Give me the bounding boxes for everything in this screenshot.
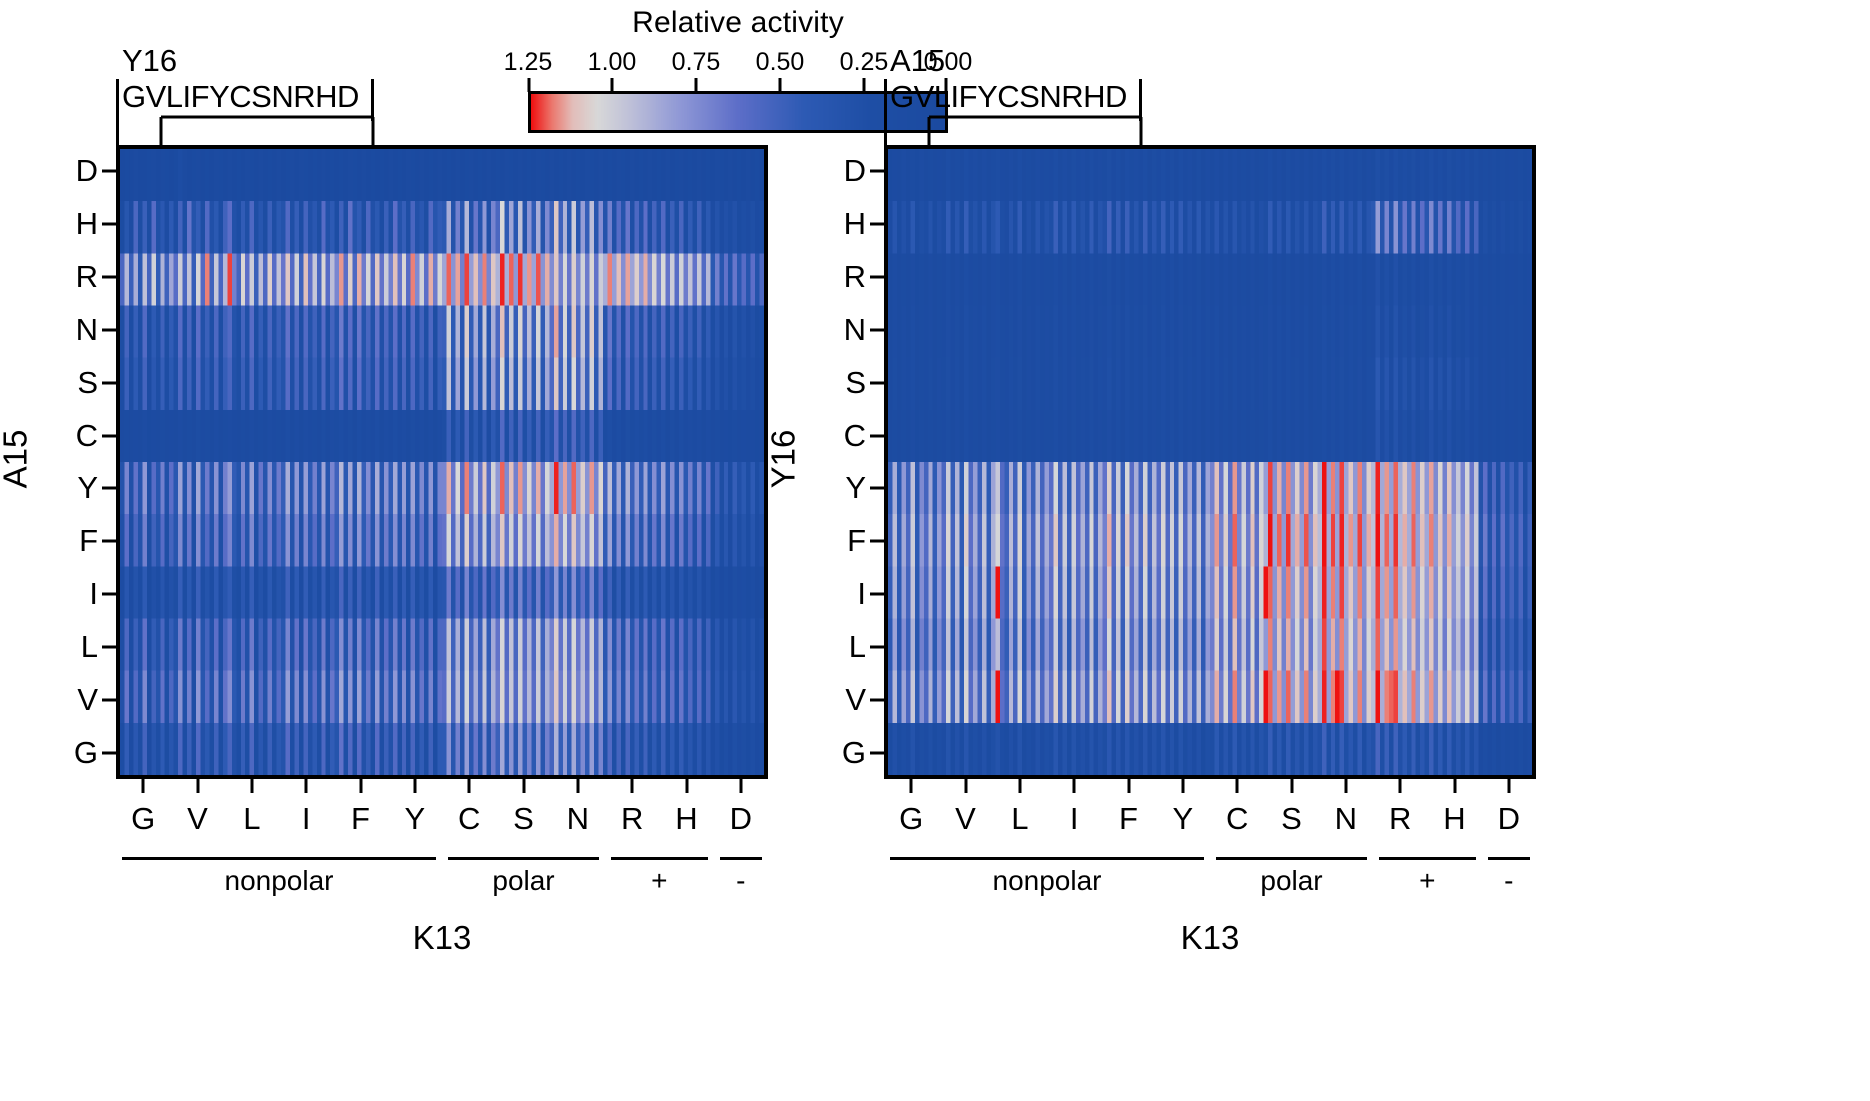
- figure-root: Relative activity 1.251.000.750.500.250.…: [0, 0, 1870, 1101]
- corner-sequence-end-bar: [371, 79, 374, 121]
- x-tick-label: V: [187, 801, 208, 837]
- x-tick-mark: [910, 779, 913, 793]
- y-tick-label: R: [76, 259, 98, 295]
- y-tick-mark: [870, 593, 884, 596]
- y-tick-mark: [102, 751, 116, 754]
- x-tick-label: L: [1011, 801, 1028, 837]
- y-tick-label: H: [844, 206, 866, 242]
- x-tick-label: R: [1389, 801, 1411, 837]
- y-tick-label: D: [76, 153, 98, 189]
- panel-left-heatmap-canvas: [120, 149, 764, 775]
- panel-left-y-tick-labels: DHRNSCYFILVG: [56, 145, 98, 779]
- group-bracket-line: [448, 857, 599, 860]
- y-tick-mark: [102, 276, 116, 279]
- x-tick-mark: [1399, 779, 1402, 793]
- y-tick-label: G: [842, 735, 866, 771]
- y-tick-label: F: [847, 523, 866, 559]
- panel-left-plot-area: [116, 145, 768, 779]
- x-tick-mark: [359, 779, 362, 793]
- x-tick-mark: [1181, 779, 1184, 793]
- y-tick-label: F: [79, 523, 98, 559]
- y-tick-mark: [102, 487, 116, 490]
- y-tick-mark: [102, 223, 116, 226]
- group-bracket-line: [122, 857, 436, 860]
- corner-sequence-end-bar: [1139, 79, 1142, 121]
- x-tick-label: C: [1226, 801, 1248, 837]
- x-tick-mark: [739, 779, 742, 793]
- x-tick-mark: [685, 779, 688, 793]
- x-tick-mark: [1127, 779, 1130, 793]
- y-tick-label: R: [844, 259, 866, 295]
- y-tick-mark: [102, 434, 116, 437]
- group-label: +: [1419, 865, 1435, 897]
- panel-left-y-axis-title: A15: [0, 430, 34, 489]
- y-tick-mark: [870, 751, 884, 754]
- panel-left-x-axis-title: K13: [413, 919, 472, 957]
- x-tick-label: N: [567, 801, 589, 837]
- y-tick-mark: [102, 381, 116, 384]
- y-tick-label: C: [76, 418, 98, 454]
- panel-right-y-axis-title: Y16: [764, 430, 802, 489]
- x-tick-label: H: [675, 801, 697, 837]
- y-tick-mark: [102, 540, 116, 543]
- x-tick-label: S: [1281, 801, 1302, 837]
- x-tick-label: V: [955, 801, 976, 837]
- x-tick-label: H: [1443, 801, 1465, 837]
- y-tick-mark: [102, 170, 116, 173]
- x-tick-label: G: [899, 801, 923, 837]
- y-tick-mark: [102, 593, 116, 596]
- y-tick-mark: [102, 645, 116, 648]
- panel-right-corner-residue: A15: [890, 45, 945, 76]
- group-bracket-line: [720, 857, 762, 860]
- x-tick-mark: [1507, 779, 1510, 793]
- panel-left-x-ticks: [116, 779, 768, 793]
- x-tick-label: I: [302, 801, 311, 837]
- x-tick-label: F: [1119, 801, 1138, 837]
- y-tick-label: S: [845, 365, 866, 401]
- x-tick-mark: [413, 779, 416, 793]
- x-tick-label: C: [458, 801, 480, 837]
- group-bracket-line: [890, 857, 1204, 860]
- y-tick-mark: [870, 276, 884, 279]
- y-tick-mark: [870, 645, 884, 648]
- x-tick-label: L: [243, 801, 260, 837]
- panel-right-y-tick-labels: DHRNSCYFILVG: [824, 145, 866, 779]
- x-tick-mark: [142, 779, 145, 793]
- group-label: +: [651, 865, 667, 897]
- group-label: -: [736, 865, 745, 897]
- y-tick-label: G: [74, 735, 98, 771]
- x-tick-mark: [1453, 779, 1456, 793]
- x-tick-mark: [1236, 779, 1239, 793]
- y-tick-label: I: [857, 576, 866, 612]
- y-tick-label: V: [77, 682, 98, 718]
- y-tick-label: Y: [845, 470, 866, 506]
- y-tick-mark: [870, 170, 884, 173]
- group-label: polar: [1260, 865, 1322, 897]
- x-tick-label: G: [131, 801, 155, 837]
- group-label: -: [1504, 865, 1513, 897]
- x-tick-mark: [631, 779, 634, 793]
- y-tick-label: L: [81, 629, 98, 665]
- x-tick-mark: [305, 779, 308, 793]
- group-bracket-line: [611, 857, 708, 860]
- y-tick-mark: [870, 487, 884, 490]
- x-tick-label: Y: [1172, 801, 1193, 837]
- x-tick-label: F: [351, 801, 370, 837]
- heatmap-panel-right: A15 GVLIFYCSNRHD Y16 DHRNSCYFILVG GVLIFY…: [900, 0, 1800, 1101]
- y-tick-label: V: [845, 682, 866, 718]
- panel-left-x-groups: nonpolarpolar+-: [116, 857, 768, 917]
- group-label: nonpolar: [225, 865, 334, 897]
- y-tick-label: Y: [77, 470, 98, 506]
- y-tick-label: I: [89, 576, 98, 612]
- panel-left-y-ticks: [102, 145, 116, 779]
- y-tick-mark: [102, 328, 116, 331]
- x-tick-mark: [468, 779, 471, 793]
- x-tick-mark: [576, 779, 579, 793]
- panel-left-corner-residue: Y16: [122, 45, 177, 76]
- panel-right-plot-area: [884, 145, 1536, 779]
- y-tick-mark: [870, 434, 884, 437]
- y-tick-label: N: [76, 312, 98, 348]
- x-tick-label: D: [730, 801, 752, 837]
- y-tick-label: N: [844, 312, 866, 348]
- y-tick-mark: [870, 328, 884, 331]
- x-tick-mark: [964, 779, 967, 793]
- heatmap-panel-left: Y16 GVLIFYCSNRHD A15 DHRNSCYFILVG GVLIFY…: [0, 0, 900, 1101]
- panel-right-x-groups: nonpolarpolar+-: [884, 857, 1536, 917]
- group-label: nonpolar: [993, 865, 1102, 897]
- x-tick-label: I: [1070, 801, 1079, 837]
- y-tick-mark: [870, 698, 884, 701]
- x-tick-mark: [522, 779, 525, 793]
- x-tick-label: D: [1498, 801, 1520, 837]
- y-tick-label: L: [849, 629, 866, 665]
- x-tick-label: S: [513, 801, 534, 837]
- x-tick-mark: [1018, 779, 1021, 793]
- y-tick-label: D: [844, 153, 866, 189]
- group-label: polar: [492, 865, 554, 897]
- x-tick-mark: [1344, 779, 1347, 793]
- group-bracket-line: [1488, 857, 1530, 860]
- x-tick-mark: [1290, 779, 1293, 793]
- x-tick-label: N: [1335, 801, 1357, 837]
- panel-right-x-axis-title: K13: [1181, 919, 1240, 957]
- panel-right-heatmap-canvas: [888, 149, 1532, 775]
- group-bracket-line: [1379, 857, 1476, 860]
- x-tick-label: R: [621, 801, 643, 837]
- y-tick-label: H: [76, 206, 98, 242]
- y-tick-mark: [870, 223, 884, 226]
- x-tick-mark: [1073, 779, 1076, 793]
- x-tick-label: Y: [404, 801, 425, 837]
- group-bracket-line: [1216, 857, 1367, 860]
- x-tick-mark: [250, 779, 253, 793]
- y-tick-mark: [102, 698, 116, 701]
- y-tick-mark: [870, 381, 884, 384]
- x-tick-mark: [196, 779, 199, 793]
- panel-right-y-ticks: [870, 145, 884, 779]
- y-tick-mark: [870, 540, 884, 543]
- panel-right-x-ticks: [884, 779, 1536, 793]
- y-tick-label: S: [77, 365, 98, 401]
- y-tick-label: C: [844, 418, 866, 454]
